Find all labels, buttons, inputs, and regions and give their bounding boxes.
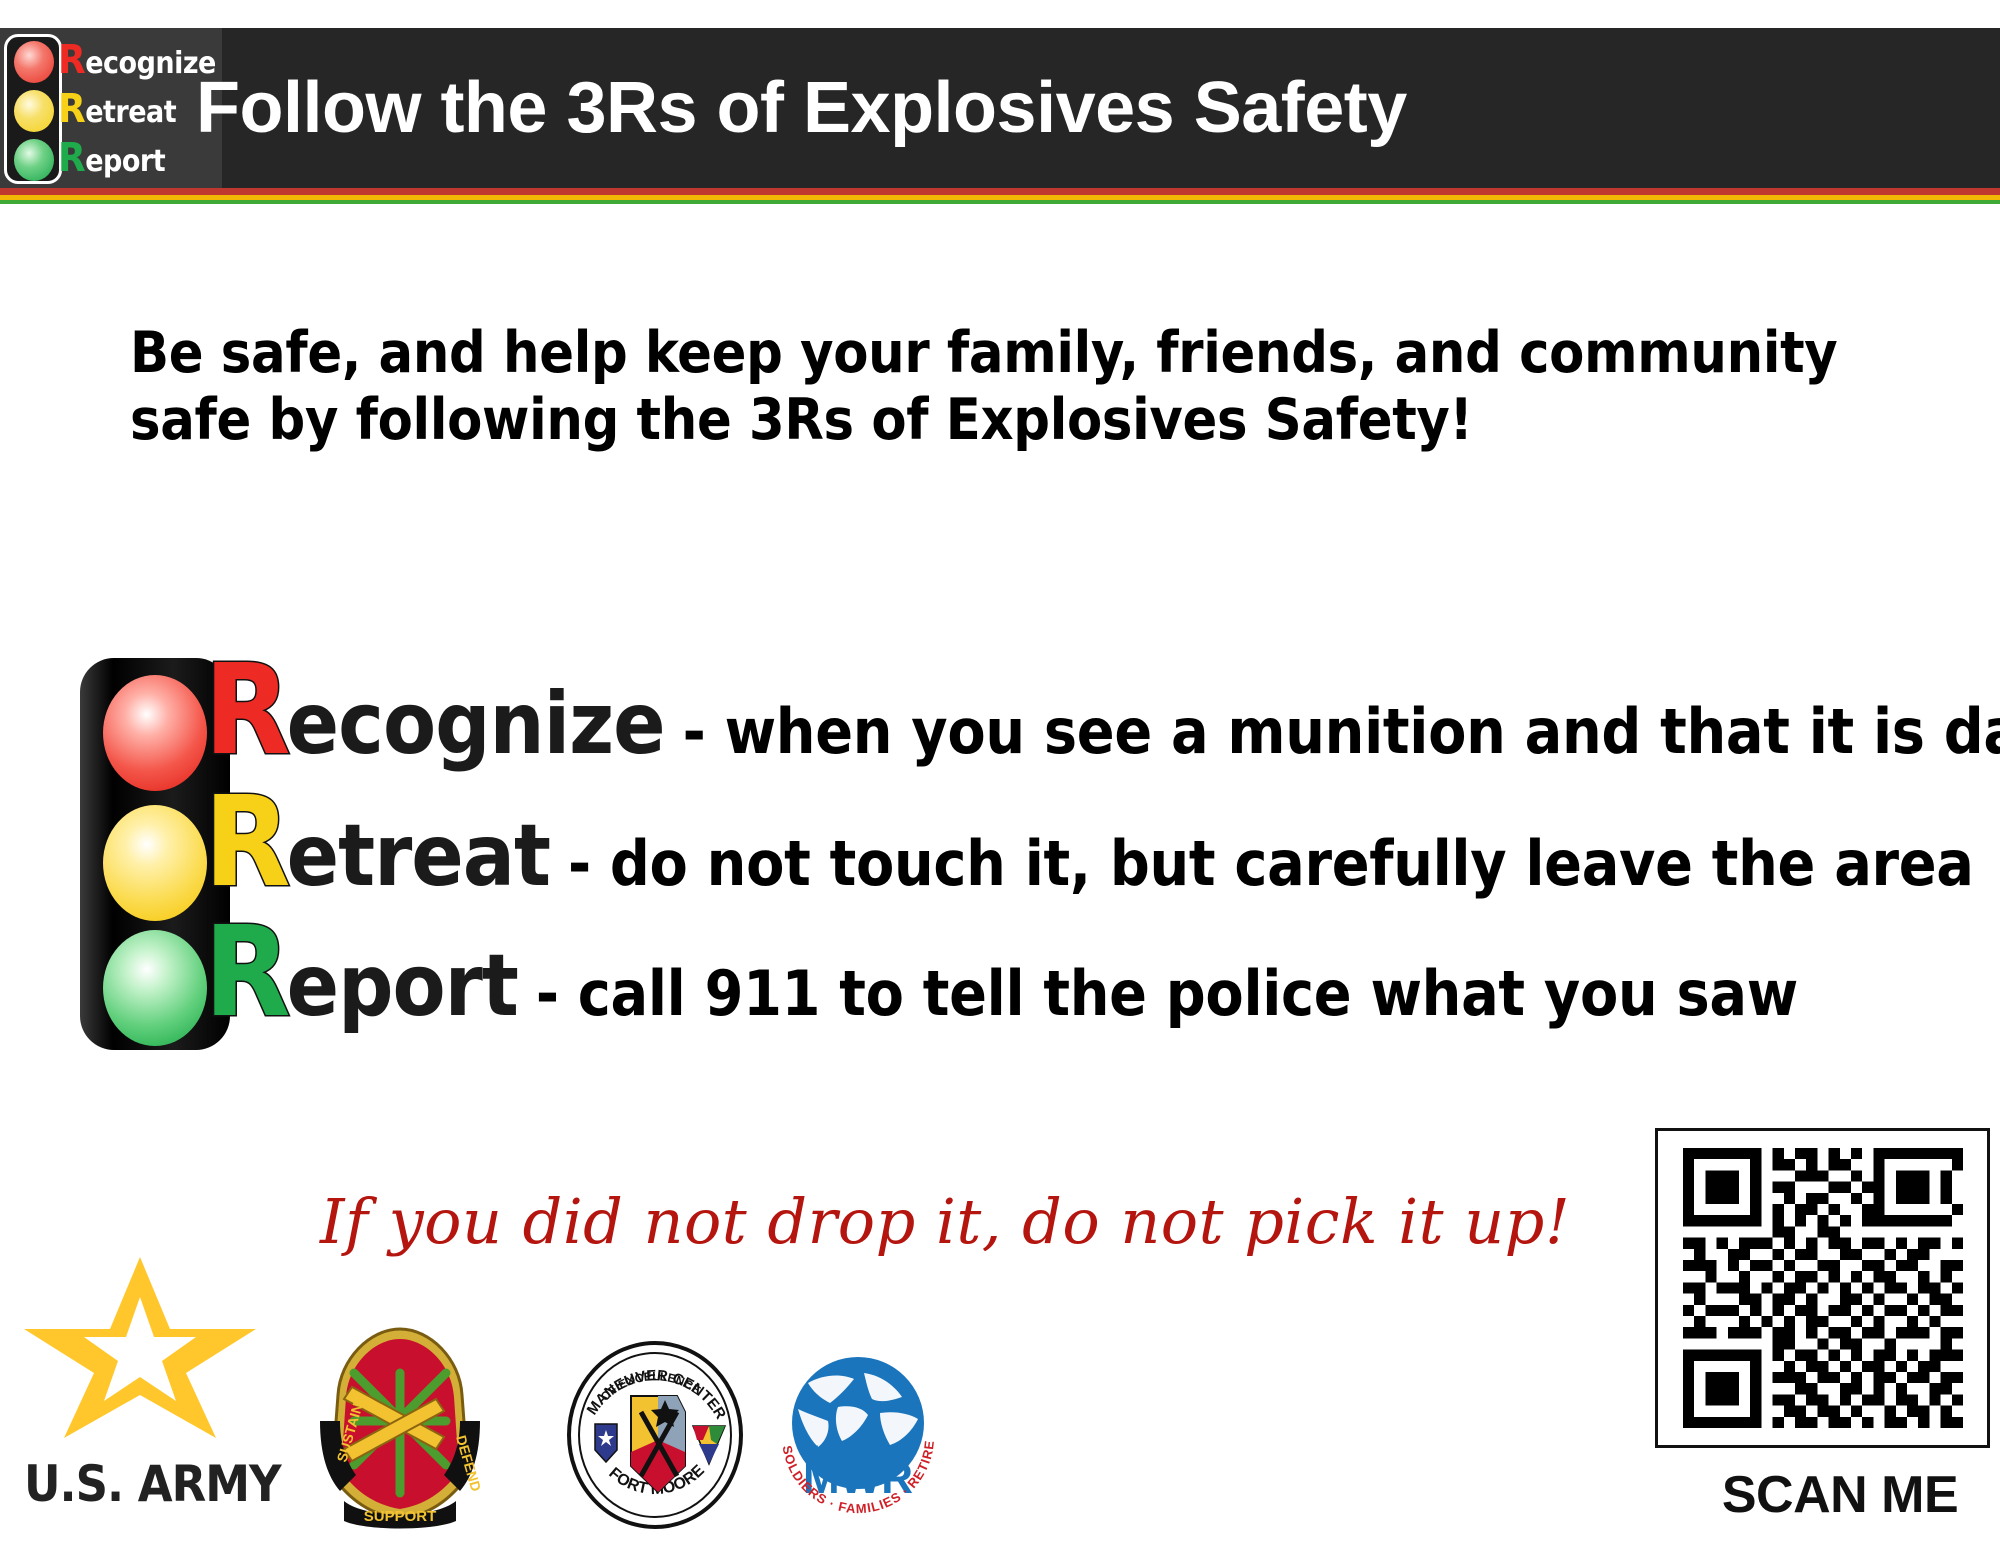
desc-recognize: - when you see a munition and that it is…: [683, 701, 2000, 763]
imcom-motto-support: SUPPORT: [364, 1508, 437, 1525]
header-accent-stripes: [0, 188, 2000, 204]
word-recognize: ecognize: [287, 681, 665, 767]
imcom-crest-icon: SUSTAIN DEFEND SUPPORT: [310, 1325, 490, 1530]
intro-line-2: safe by following the 3Rs of Explosives …: [130, 387, 1930, 454]
cap-r-retreat: R: [204, 780, 291, 905]
cap-r-recognize: R: [204, 648, 291, 773]
stripe-red: [0, 188, 2000, 195]
page-title: Follow the 3Rs of Explosives Safety: [196, 28, 1407, 188]
yellow-lamp-icon: [103, 805, 207, 921]
yellow-lamp-icon: [14, 90, 54, 132]
three-rs-row-recognize: R ecognize - when you see a munition and…: [204, 648, 2000, 778]
word-report: eport: [287, 943, 518, 1029]
3rs-mini-traffic-light-icon: [4, 34, 62, 184]
mini-word-recognize: Recognize: [58, 36, 218, 85]
mini-word-retreat: Retreat: [58, 85, 218, 134]
mwr-logo-icon: U.S. ARMY MWR SOLDIERS · FAMILIES · RETI…: [768, 1345, 948, 1530]
three-rs-row-report: R eport - call 911 to tell the police wh…: [204, 910, 1798, 1040]
green-lamp-icon: [103, 930, 207, 1046]
header-logo-panel: Recognize Retreat Report: [0, 28, 222, 188]
mini-rest-retreat: etreat: [85, 95, 176, 130]
red-lamp-icon: [103, 675, 207, 791]
3rs-mini-wordmark: Recognize Retreat Report: [58, 36, 218, 183]
mini-cap-r-retreat: R: [58, 86, 85, 132]
mini-cap-r-recognize: R: [58, 37, 85, 83]
qr-code-matrix: [1677, 1148, 1969, 1428]
qr-code[interactable]: [1655, 1128, 1990, 1448]
intro-paragraph: Be safe, and help keep your family, frie…: [130, 320, 1930, 455]
mini-word-report: Report: [58, 134, 218, 183]
army-wordmark: U.S. ARMY: [24, 1455, 281, 1513]
green-lamp-icon: [14, 139, 54, 181]
mini-rest-report: eport: [85, 144, 165, 179]
desc-retreat: - do not touch it, but carefully leave t…: [568, 833, 1974, 895]
mcoe-seal-icon: MANEUVER CENTER OF EXCELLENCE FORT MOORE: [565, 1340, 745, 1530]
word-retreat: etreat: [287, 813, 550, 899]
header-bar: Recognize Retreat Report Follow the 3Rs …: [0, 28, 2000, 188]
tagline: If you did not drop it, do not pick it u…: [320, 1185, 1620, 1258]
red-lamp-icon: [14, 41, 54, 83]
intro-line-1: Be safe, and help keep your family, frie…: [130, 320, 1930, 387]
three-rs-block: R ecognize - when you see a munition and…: [80, 648, 1940, 1063]
desc-report: - call 911 to tell the police what you s…: [536, 963, 1798, 1025]
mini-cap-r-report: R: [58, 135, 85, 181]
scan-me-label: SCAN ME: [1690, 1465, 1990, 1525]
army-star-icon: [20, 1255, 260, 1440]
cap-r-report: R: [204, 910, 291, 1035]
stripe-green: [0, 200, 2000, 204]
three-rs-row-retreat: R etreat - do not touch it, but carefull…: [204, 780, 1974, 910]
